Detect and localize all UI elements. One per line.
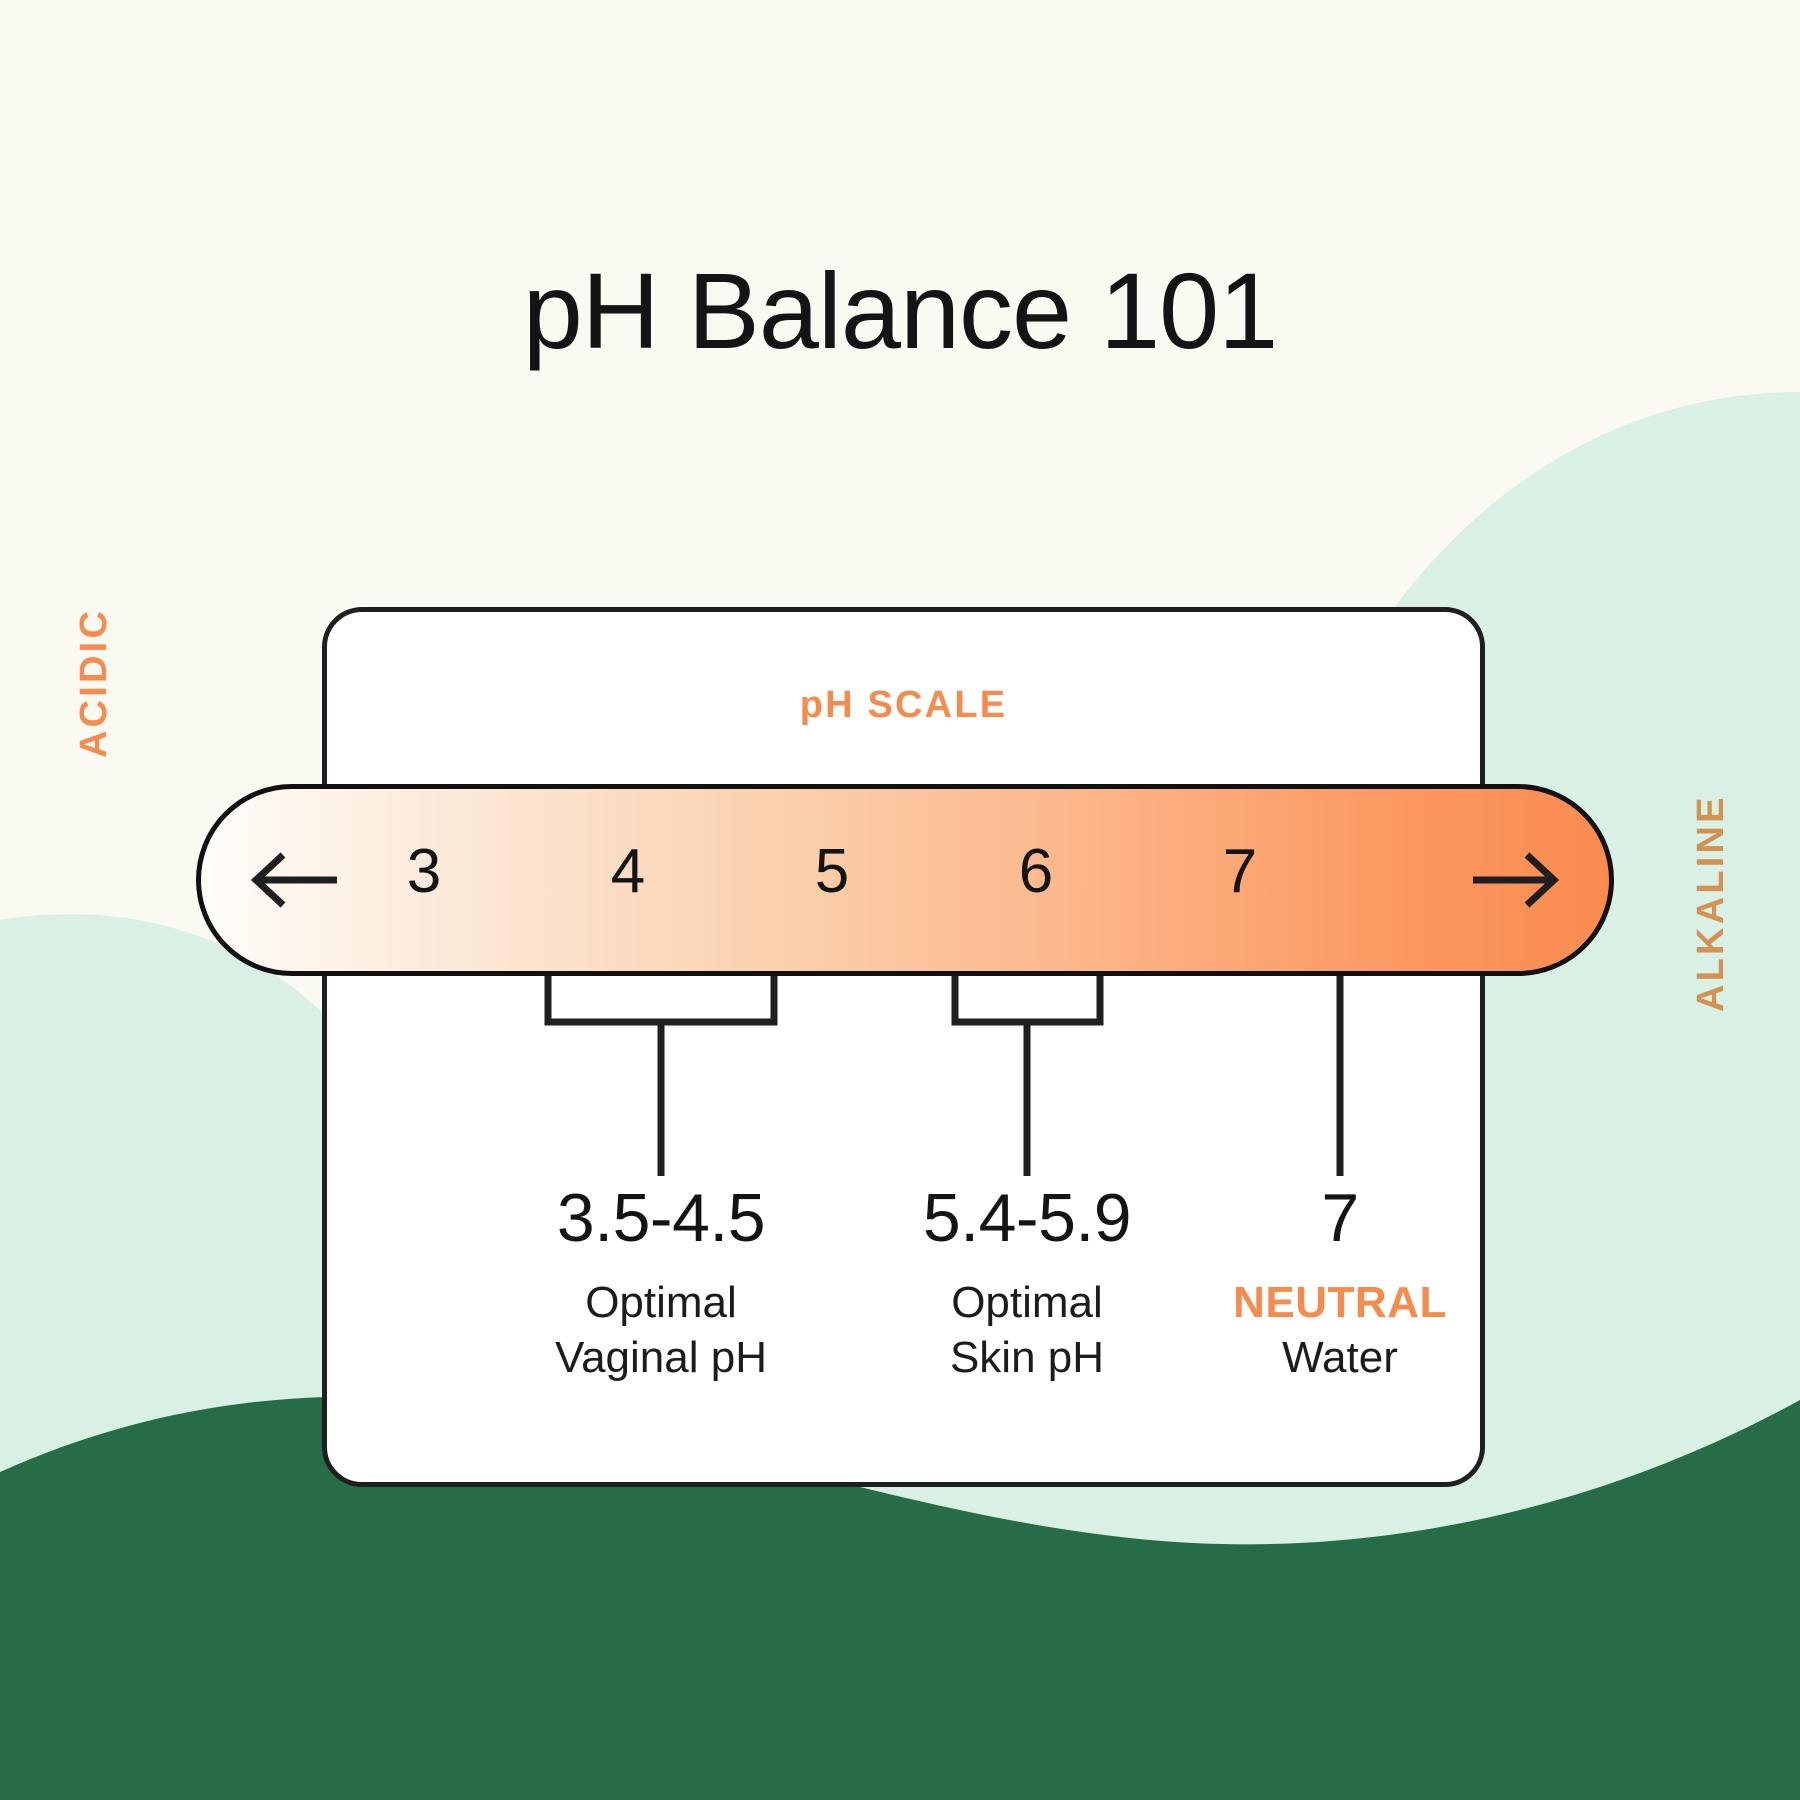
callout-desc-water: NEUTRAL Water	[1233, 1276, 1447, 1385]
callout-skin-ph: 5.4-5.9 Optimal Skin pH	[923, 1184, 1131, 1385]
acidic-label: ACIDIC	[73, 608, 116, 758]
callout-value-water: 7	[1233, 1184, 1447, 1252]
callout-desc-vaginal-line1: Optimal	[555, 1276, 767, 1331]
callout-desc-skin: Optimal Skin pH	[923, 1276, 1131, 1385]
tick-label-3: 3	[407, 841, 441, 903]
callout-desc-skin-line2: Skin pH	[923, 1331, 1131, 1386]
ph-gradient-bar: 3 4 5 6 7	[196, 784, 1614, 976]
callout-tag-neutral: NEUTRAL	[1233, 1276, 1447, 1331]
arrow-right-icon	[1469, 850, 1561, 910]
callout-desc-vaginal-line2: Vaginal pH	[555, 1331, 767, 1386]
callout-value-vaginal: 3.5-4.5	[555, 1184, 767, 1252]
tick-label-7: 7	[1223, 841, 1257, 903]
callout-desc-vaginal: Optimal Vaginal pH	[555, 1276, 767, 1385]
callout-desc-water-line1: Water	[1233, 1331, 1447, 1386]
ph-scale-heading: pH SCALE	[327, 684, 1480, 727]
tick-label-6: 6	[1019, 841, 1053, 903]
arrow-left-icon	[249, 850, 341, 910]
callout-water: 7 NEUTRAL Water	[1233, 1184, 1447, 1385]
page-title: pH Balance 101	[0, 252, 1800, 371]
tick-label-4: 4	[611, 841, 645, 903]
callout-value-skin: 5.4-5.9	[923, 1184, 1131, 1252]
tick-label-5: 5	[815, 841, 849, 903]
callout-vaginal-ph: 3.5-4.5 Optimal Vaginal pH	[555, 1184, 767, 1385]
callout-desc-skin-line1: Optimal	[923, 1276, 1131, 1331]
infographic-canvas: pH Balance 101 pH SCALE	[0, 0, 1800, 1800]
alkaline-label: ALKALINE	[1690, 794, 1733, 1012]
